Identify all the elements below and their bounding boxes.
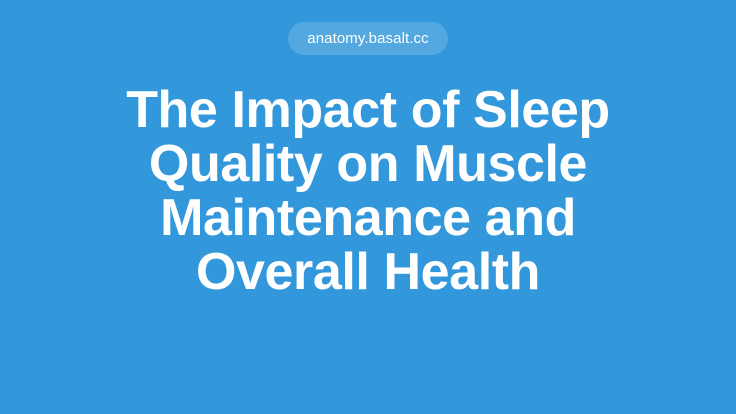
page-title-line: Maintenance and <box>34 191 702 245</box>
article-cover-card: anatomy.basalt.cc The Impact of Sleep Qu… <box>0 0 736 414</box>
site-domain-label: anatomy.basalt.cc <box>307 31 428 46</box>
page-title-line: The Impact of Sleep <box>34 83 702 137</box>
site-domain-badge: anatomy.basalt.cc <box>288 22 447 55</box>
page-title-line: Overall Health <box>34 245 702 299</box>
page-title-line: Quality on Muscle <box>34 137 702 191</box>
page-title: The Impact of Sleep Quality on Muscle Ma… <box>0 83 736 299</box>
